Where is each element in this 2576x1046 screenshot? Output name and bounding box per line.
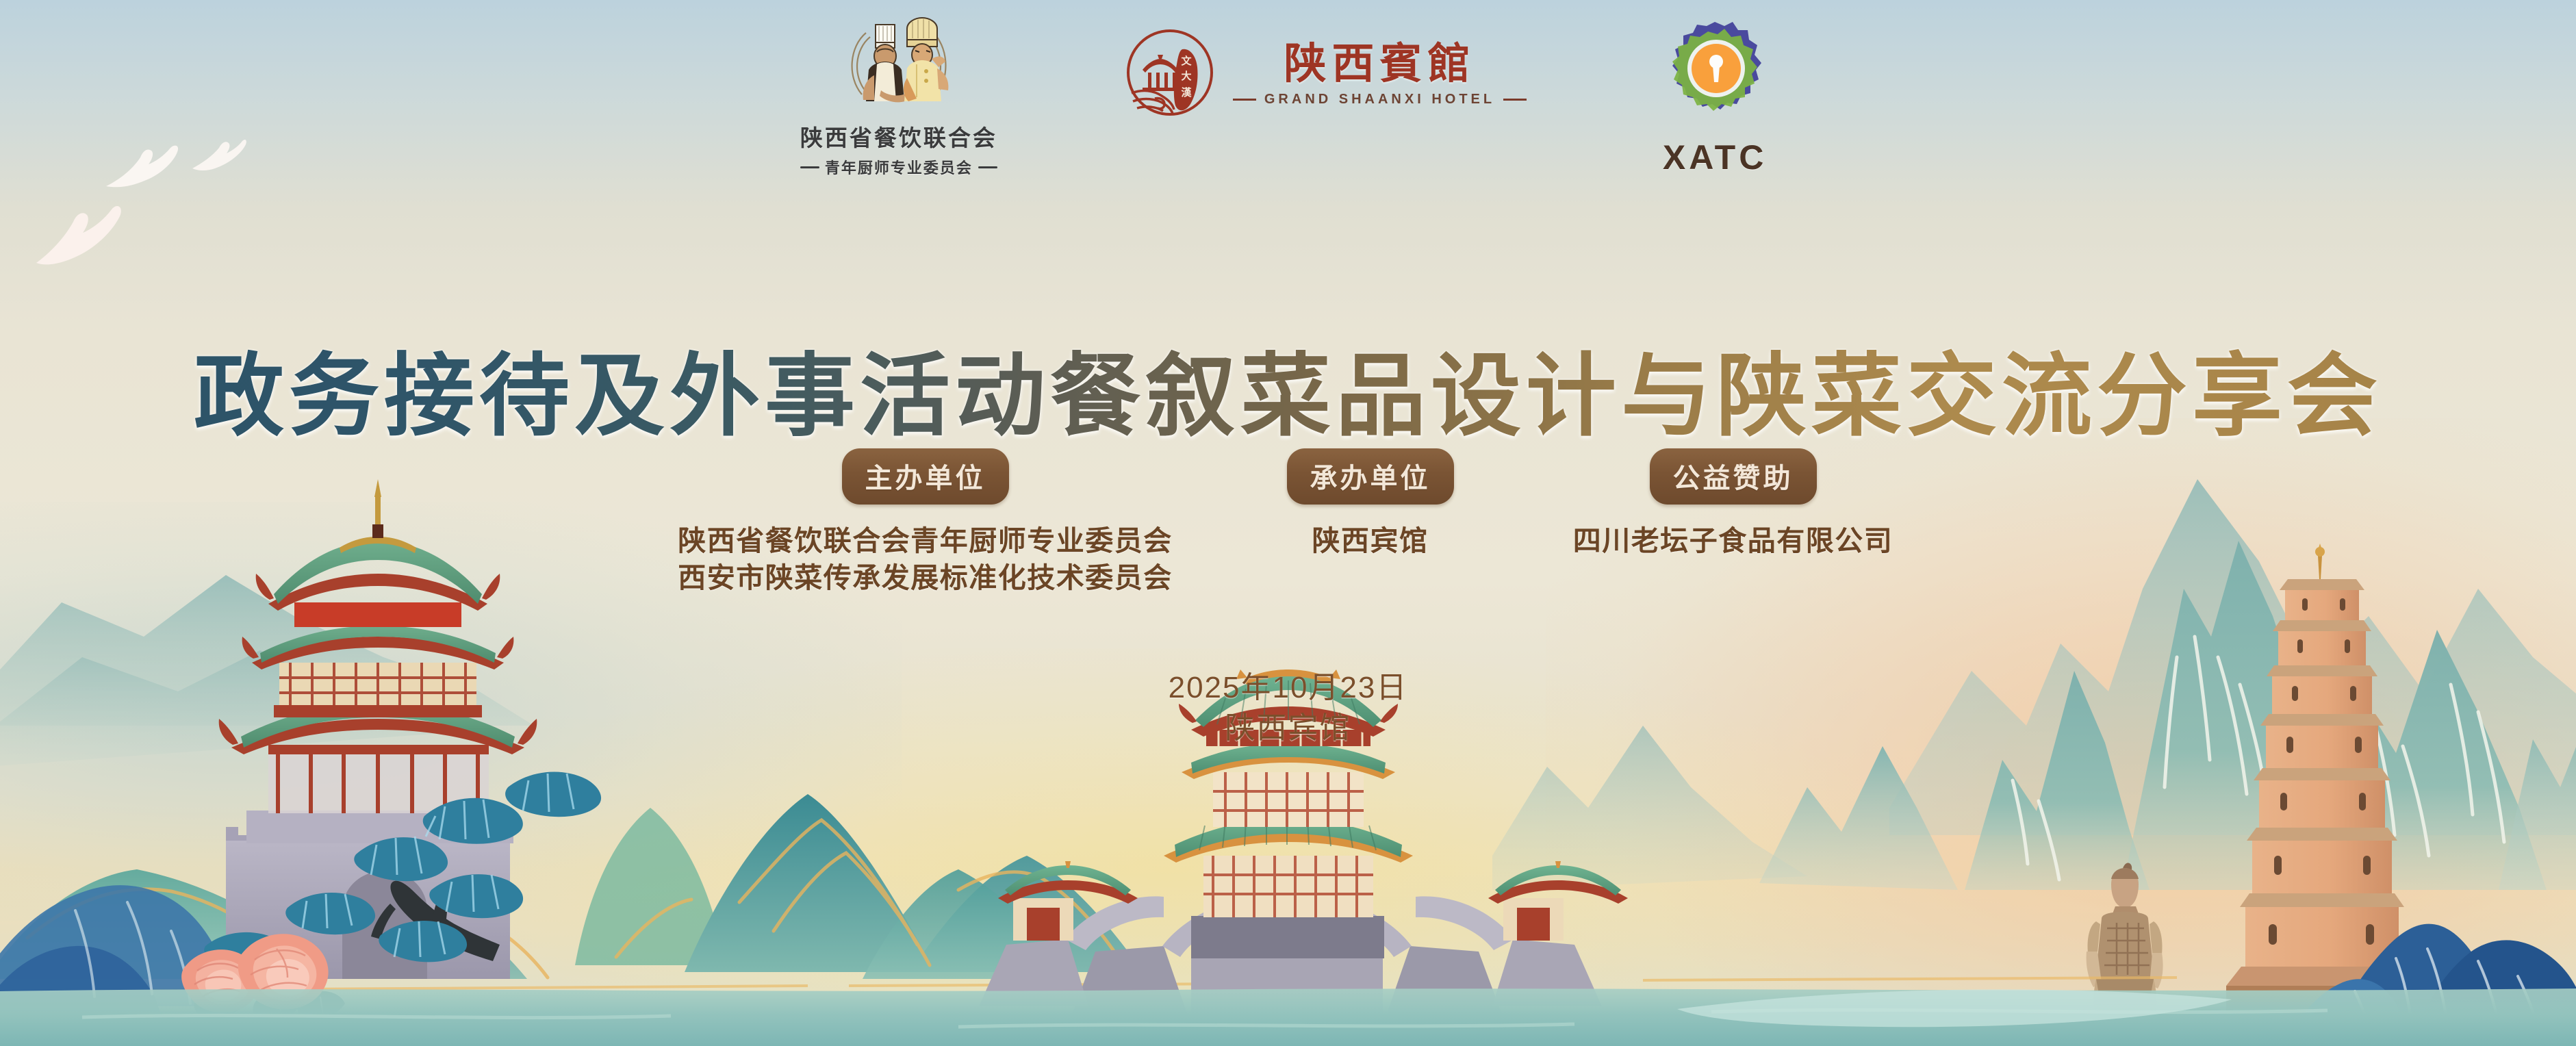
host-names: 陕西宾馆 (1312, 522, 1429, 559)
gear-keyhole-icon (1656, 16, 1774, 135)
page-title: 政务接待及外事活动餐叙菜品设计与陕菜交流分享会 (0, 323, 2576, 454)
event-banner: 陕西省餐饮联合会 青年厨师专业委员会 (0, 0, 2576, 1046)
sponsor-line: 四川老坛子食品有限公司 (1573, 522, 1893, 559)
logo2-name-en-text: GRAND SHAANXI HOTEL (1264, 92, 1495, 107)
logo1-name: 陕西省餐饮联合会 (800, 120, 997, 153)
sponsor-block: 公益赞助 四川老坛子食品有限公司 (1542, 448, 1925, 559)
organizations-row: 主办单位 陕西省餐饮联合会青年厨师专业委员会 西安市陕菜传承发展标准化技术委员会… (0, 448, 2576, 596)
logo-shaanxi-catering-association: 陕西省餐饮联合会 青年厨师专业委员会 (782, 12, 1015, 178)
event-date: 2025年10月23日 (0, 667, 2576, 708)
organizer-names: 陕西省餐饮联合会青年厨师专业委员会 西安市陕菜传承发展标准化技术委员会 (678, 522, 1173, 596)
svg-text:漢: 漢 (1181, 86, 1192, 99)
organizer-block: 主办单位 陕西省餐饮联合会青年厨师专业委员会 西安市陕菜传承发展标准化技术委员会 (652, 448, 1199, 596)
logo-xatc: XATC (1636, 16, 1794, 177)
dash-right (1503, 99, 1527, 101)
svg-text:文: 文 (1181, 55, 1192, 67)
organizer-line: 陕西省餐饮联合会青年厨师专业委员会 (678, 522, 1173, 559)
two-chefs-icon (841, 12, 956, 118)
logo2-name-en: GRAND SHAANXI HOTEL (1233, 92, 1527, 107)
dash-left (800, 166, 819, 168)
host-line: 陕西宾馆 (1312, 522, 1429, 559)
organizer-line: 西安市陕菜传承发展标准化技术委员会 (678, 559, 1173, 596)
dash-right (978, 166, 997, 168)
logo2-text: 陕西賓館 GRAND SHAANXI HOTEL (1233, 41, 1527, 107)
event-venue: 陕西宾馆 (0, 708, 2576, 748)
event-datetime-venue: 2025年10月23日 陕西宾馆 (0, 667, 2576, 749)
logo2-name-cn: 陕西賓館 (1284, 41, 1475, 86)
logo1-subname-text: 青年厨师专业委员会 (825, 156, 973, 178)
status-badge-host: 承办单位 (1287, 448, 1454, 505)
dash-left (1233, 99, 1256, 101)
svg-text:大: 大 (1181, 70, 1191, 82)
sponsor-names: 四川老坛子食品有限公司 (1573, 522, 1893, 559)
status-badge-organizer: 主办单位 (842, 448, 1009, 505)
logo1-subname: 青年厨师专业委员会 (800, 156, 997, 178)
logos-row: 陕西省餐饮联合会 青年厨师专业委员会 (0, 12, 2576, 218)
circular-pagoda-seal-icon: 文 大 漢 (1125, 27, 1215, 121)
status-badge-sponsor: 公益赞助 (1650, 448, 1817, 505)
logo-grand-shaanxi-hotel: 文 大 漢 陕西賓館 GRAND SHAANXI HOTEL (1125, 27, 1527, 121)
logo3-name: XATC (1663, 138, 1767, 177)
host-block: 承办单位 陕西宾馆 (1199, 448, 1542, 559)
